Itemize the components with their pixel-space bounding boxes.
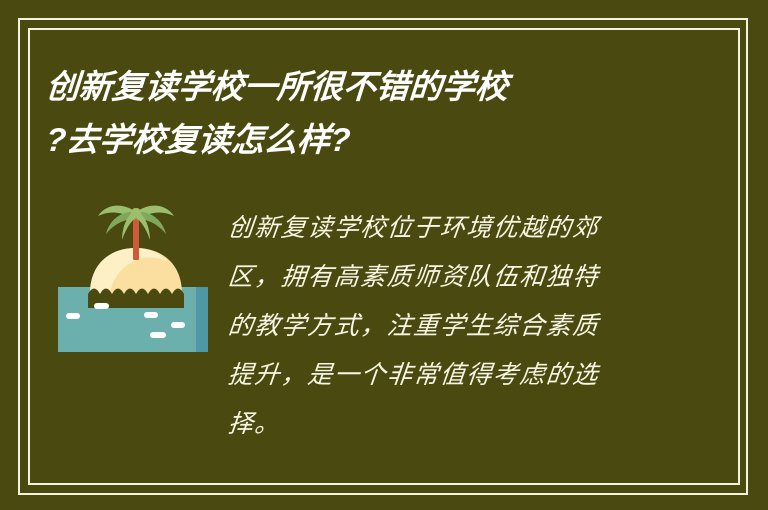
body-line-1: 创新复读学校位于环境优越的郊 (225, 204, 650, 253)
page-title-line-1: 创新复读学校一所很不错的学校 (44, 60, 708, 113)
page-title-line-2: ?去学校复读怎么样? (44, 113, 708, 166)
body-line-5: 择。 (225, 400, 650, 449)
body-line-4: 提升，是一个非常值得考虑的选 (225, 351, 650, 400)
palm-tree-icon (98, 206, 174, 260)
palm-island-illustration (52, 196, 212, 356)
body-line-2: 区，拥有高素质师资队伍和独特 (225, 253, 650, 302)
page-title: 创新复读学校一所很不错的学校 ?去学校复读怎么样? (46, 60, 706, 166)
body-line-3: 的教学方式，注重学生综合素质 (225, 302, 650, 351)
body-paragraph: 创新复读学校位于环境优越的郊 区，拥有高素质师资队伍和独特 的教学方式，注重学生… (228, 204, 648, 449)
